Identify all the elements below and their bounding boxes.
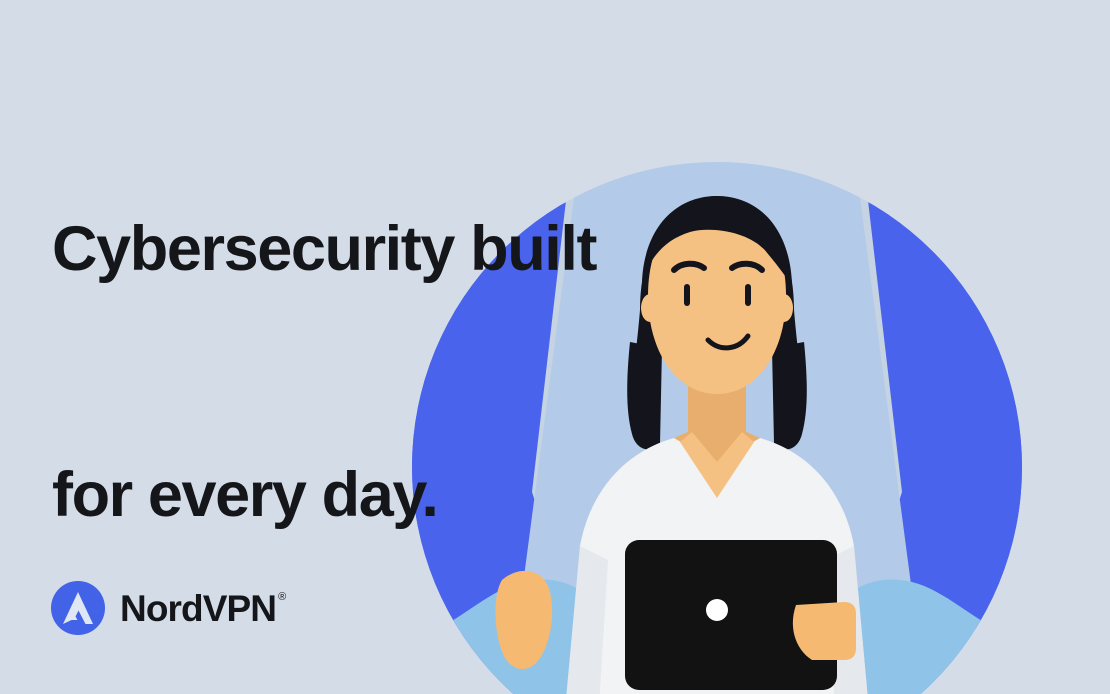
nordvpn-logo[interactable]: NordVPN ® (50, 580, 286, 636)
headline-line-2: for every day. (52, 454, 596, 536)
nordvpn-mountain-logo-icon (50, 580, 106, 636)
ear-right (775, 294, 793, 322)
ear-left (641, 294, 659, 322)
headline-line-1: Cybersecurity built (52, 208, 596, 290)
nordvpn-wordmark-wrap: NordVPN ® (120, 590, 286, 627)
eye-left (684, 284, 690, 306)
hair-strand-right (772, 342, 807, 449)
hand-right (793, 602, 856, 660)
laptop-camera-dot (706, 599, 728, 621)
nordvpn-wordmark: NordVPN (120, 590, 276, 627)
hair-strand-left (627, 342, 662, 449)
nordvpn-promo-banner: Cybersecurity built for every day. (0, 0, 1110, 694)
eye-right (745, 284, 751, 306)
registered-trademark-symbol: ® (278, 592, 286, 603)
